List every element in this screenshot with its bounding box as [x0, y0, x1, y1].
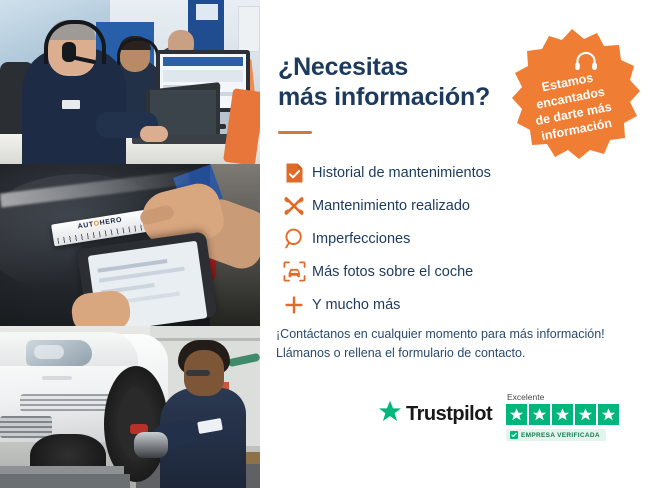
list-item: Imperfecciones	[276, 222, 576, 255]
list-item-label: Más fotos sobre el coche	[312, 264, 473, 280]
car-photo-frame-icon	[276, 261, 312, 282]
crossed-tools-icon	[276, 195, 312, 217]
paper-poster-decor	[238, 6, 260, 52]
headset-band-decor	[117, 38, 159, 65]
photo-call-center	[0, 0, 260, 164]
check-icon	[510, 431, 518, 439]
name-badge-decor	[62, 100, 80, 109]
help-badge: Estamos encantados de darte más informac…	[504, 26, 640, 162]
verified-badge: EMPRESA VERIFICADA	[506, 429, 606, 441]
hand-decor	[140, 126, 168, 142]
trustpilot-widget[interactable]: Trustpilot Excelente EMPRESA VERIFICADA	[378, 392, 628, 446]
list-item: Mantenimiento realizado	[276, 189, 576, 222]
paragraph-line-2: Llámanos o rellena el formulario de cont…	[276, 344, 636, 363]
paragraph-line-1: ¡Contáctanos en cualquier momento para m…	[276, 325, 636, 344]
list-item-label: Mantenimiento realizado	[312, 198, 470, 214]
photo-column: AUTOHERO	[0, 0, 260, 488]
screen-header-decor	[163, 57, 243, 66]
screen-row-decor	[163, 70, 243, 82]
star-icon	[506, 404, 527, 425]
page-title-line-2: más información?	[278, 83, 538, 113]
star-icon	[529, 404, 550, 425]
trustpilot-name: Trustpilot	[406, 403, 492, 426]
page-title-line-1: ¿Necesitas	[278, 53, 538, 83]
list-item: Más fotos sobre el coche	[276, 255, 576, 288]
safety-glasses-decor	[186, 370, 210, 376]
document-check-icon	[276, 162, 312, 184]
list-item-label: Historial de mantenimientos	[312, 165, 491, 181]
lower-grille-decor	[0, 416, 52, 438]
plus-icon	[276, 295, 312, 315]
page-title: ¿Necesitas más información?	[278, 53, 538, 112]
content-panel: ¿Necesitas más información? Estamos enca…	[260, 0, 650, 488]
trustpilot-star-icon	[378, 400, 402, 428]
list-item: Y mucho más	[276, 288, 576, 321]
lift-platform-decor	[0, 474, 130, 488]
list-item: Historial de mantenimientos	[276, 156, 576, 189]
glove-decor	[134, 432, 168, 458]
feature-list: Historial de mantenimientos M	[276, 156, 576, 321]
trustpilot-rating: Excelente EMPRESA VERIFICADA	[506, 392, 624, 443]
badge-decor	[42, 376, 72, 380]
photo-inspection: AUTOHERO	[0, 164, 260, 326]
promo-card: AUTOHERO	[0, 0, 650, 488]
star-rating	[506, 404, 624, 425]
list-item-label: Y mucho más	[312, 297, 400, 313]
verified-label: EMPRESA VERIFICADA	[521, 432, 600, 439]
rating-label: Excelente	[507, 392, 624, 402]
star-icon	[552, 404, 573, 425]
photo-mechanic	[0, 326, 260, 488]
contact-paragraph: ¡Contáctanos en cualquier momento para m…	[276, 325, 636, 364]
trustpilot-logo: Trustpilot	[378, 400, 492, 428]
title-divider	[278, 131, 312, 134]
star-icon	[575, 404, 596, 425]
poster-inner-decor	[196, 4, 218, 20]
magnifier-icon	[276, 228, 312, 249]
headlight-inner-decor	[34, 345, 64, 359]
list-item-label: Imperfecciones	[312, 231, 410, 247]
star-icon	[598, 404, 619, 425]
